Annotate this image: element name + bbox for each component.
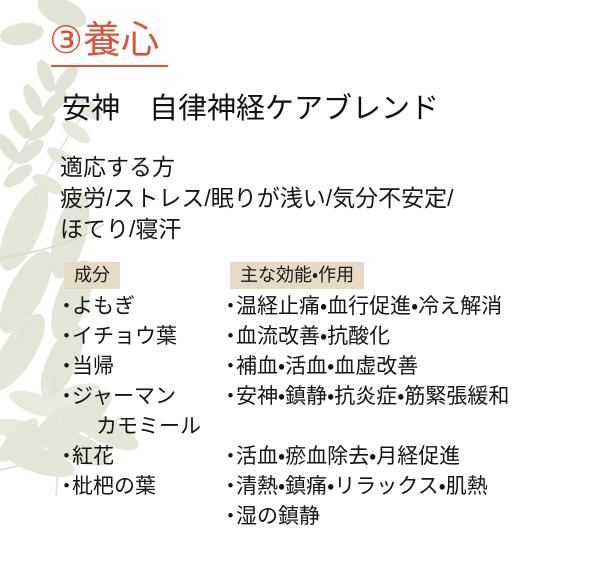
ingredient-effect-table: 成分 主な効能・作用 ・よもぎ ・イチョウ葉 ・当帰 ・ジャーマン カモミール xyxy=(48,262,608,532)
bullet-marker: ・ xyxy=(56,472,72,502)
effect-label: 血流改善・抗酸化 xyxy=(236,325,390,348)
list-item: ・ジャーマン xyxy=(56,382,246,412)
effects-column-spacer xyxy=(220,412,615,442)
effects-column: ・温経止痛・血行促進・冷え解消 ・血流改善・抗酸化 ・補血・活血・血虚改善 ・安… xyxy=(220,292,615,532)
indications-line-2: ほてり/寝汗 xyxy=(60,214,590,245)
list-item: ・血流改善・抗酸化 xyxy=(220,322,615,352)
slide-content: ③養心 安神 自律神経ケアブレンド 適応する方 疲労/ストレス/眠りが浅い/気分… xyxy=(0,0,615,565)
indications-line-1: 疲労/ストレス/眠りが浅い/気分不安定/ xyxy=(60,183,590,214)
bullet-marker: ・ xyxy=(220,292,236,322)
list-item: ・補血・活血・血虚改善 xyxy=(220,352,615,382)
bullet-marker: ・ xyxy=(56,322,72,352)
bullet-marker: ・ xyxy=(220,442,236,472)
indications-block: 適応する方 疲労/ストレス/眠りが浅い/気分不安定/ ほてり/寝汗 xyxy=(60,152,590,245)
column-header-ingredient: 成分 xyxy=(64,262,120,289)
section-title: ③養心 xyxy=(49,19,159,63)
effect-label: 湿の鎮静 xyxy=(236,505,320,528)
ingredient-label: 当帰 xyxy=(72,355,114,378)
ingredient-label-continuation: カモミール xyxy=(56,412,246,442)
indications-heading: 適応する方 xyxy=(60,152,590,183)
effect-label: 活血・瘀血除去・月経促進 xyxy=(236,445,460,468)
bullet-marker: ・ xyxy=(56,442,72,472)
table-body: ・よもぎ ・イチョウ葉 ・当帰 ・ジャーマン カモミール ・紅花 xyxy=(48,292,608,532)
list-item: ・湿の鎮静 xyxy=(220,502,615,532)
list-item: ・紅花 xyxy=(56,442,246,472)
list-item: ・清熱・鎮痛・リラックス・肌熱 xyxy=(220,472,615,502)
blend-name: 安神 自律神経ケアブレンド xyxy=(62,91,439,127)
table-header-row: 成分 主な効能・作用 xyxy=(48,262,608,288)
effect-label: 清熱・鎮痛・リラックス・肌熱 xyxy=(236,475,488,498)
list-item: ・イチョウ葉 xyxy=(56,322,246,352)
ingredient-label: 紅花 xyxy=(72,445,114,468)
list-item: ・当帰 xyxy=(56,352,246,382)
list-item: ・活血・瘀血除去・月経促進 xyxy=(220,442,615,472)
list-item: ・安神・鎮静・抗炎症・筋緊張緩和 xyxy=(220,382,615,412)
effect-label: 温経止痛・血行促進・冷え解消 xyxy=(236,295,502,318)
ingredient-label: 枇杷の葉 xyxy=(72,475,156,498)
ingredient-label: ジャーマン xyxy=(72,385,176,408)
effect-label: 安神・鎮静・抗炎症・筋緊張緩和 xyxy=(236,385,509,408)
bullet-marker: ・ xyxy=(220,472,236,502)
bullet-marker: ・ xyxy=(56,292,72,322)
ingredients-column: ・よもぎ ・イチョウ葉 ・当帰 ・ジャーマン カモミール ・紅花 xyxy=(56,292,246,502)
section-title-text: 養心 xyxy=(83,20,159,62)
list-item: ・温経止痛・血行促進・冷え解消 xyxy=(220,292,615,322)
list-item: ・よもぎ xyxy=(56,292,246,322)
bullet-marker: ・ xyxy=(220,322,236,352)
ingredient-label: イチョウ葉 xyxy=(72,325,177,348)
section-title-underline xyxy=(51,65,168,67)
bullet-marker: ・ xyxy=(220,352,236,382)
bullet-marker: ・ xyxy=(220,502,236,532)
bullet-marker: ・ xyxy=(220,382,236,412)
column-header-effect: 主な効能・作用 xyxy=(230,262,364,289)
list-item: ・枇杷の葉 xyxy=(56,472,246,502)
ingredient-label: よもぎ xyxy=(72,295,135,318)
effect-label: 補血・活血・血虚改善 xyxy=(236,355,418,378)
bullet-marker: ・ xyxy=(56,382,72,412)
bullet-marker: ・ xyxy=(56,352,72,382)
section-number-glyph: ③ xyxy=(49,20,83,62)
ingredient-label-continuation-row: カモミール xyxy=(56,412,246,442)
